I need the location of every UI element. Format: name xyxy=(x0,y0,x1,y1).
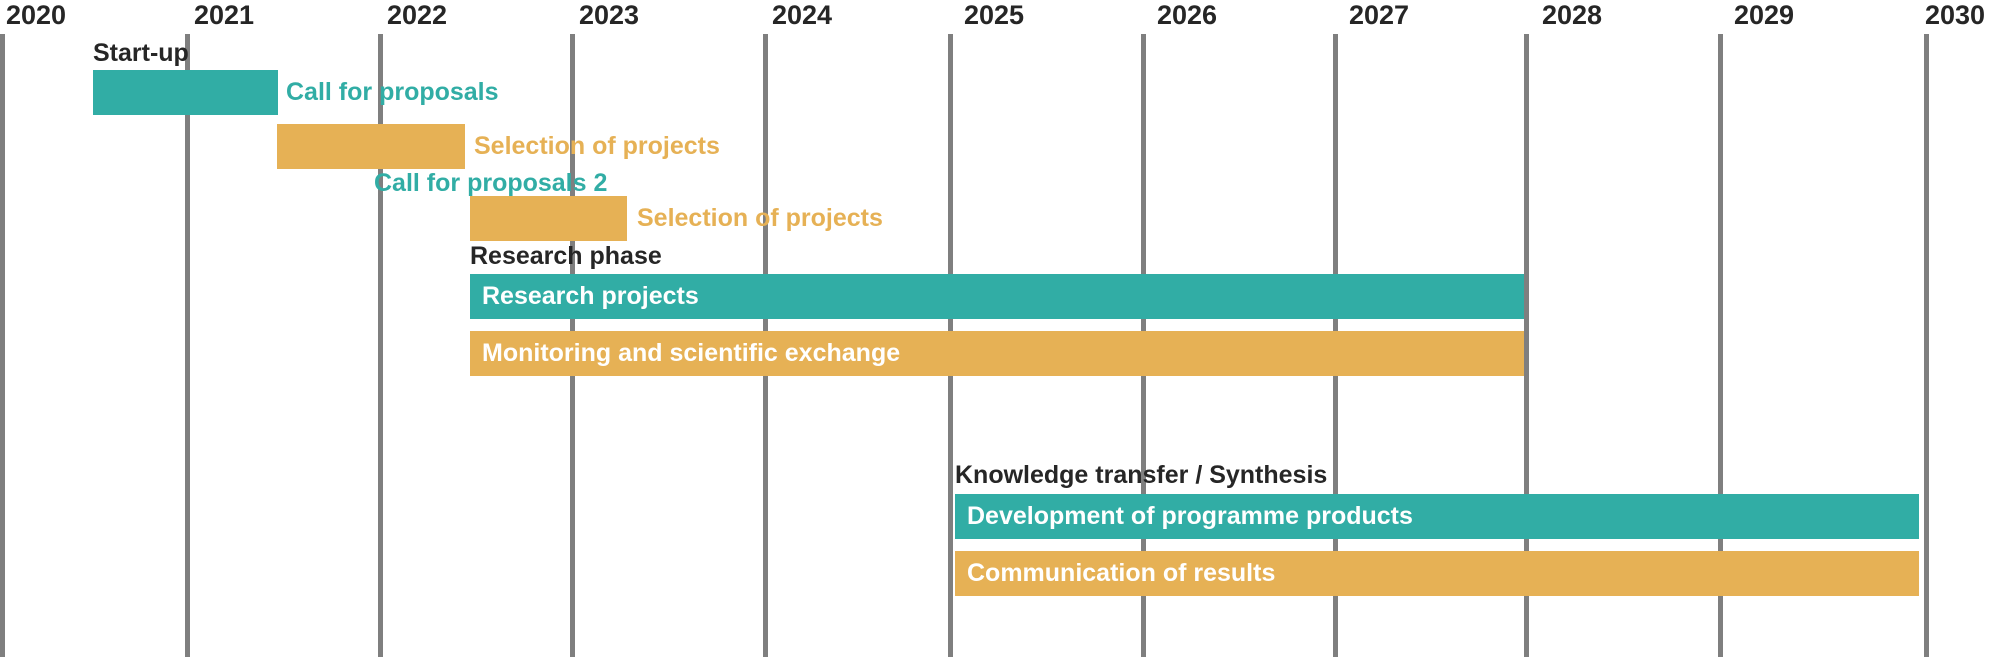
task-label-research-projects: Research projects xyxy=(470,284,699,309)
task-label-call-for-proposals-2: Call for proposals 2 xyxy=(374,171,607,196)
task-label-call-for-proposals: Call for proposals xyxy=(286,80,499,105)
task-bar-communication-of-results[interactable]: Communication of results xyxy=(955,551,1919,596)
task-bar-research-projects[interactable]: Research projects xyxy=(470,274,1524,319)
task-label-communication-of-results: Communication of results xyxy=(955,561,1275,586)
task-bar-monitoring-and-scientific-exchange[interactable]: Monitoring and scientific exchange xyxy=(470,331,1524,376)
task-label-development-of-programme-products: Development of programme products xyxy=(955,504,1413,529)
task-bars: Start-up Call for proposals Selection of… xyxy=(0,0,2000,657)
task-label-selection-of-projects-1: Selection of projects xyxy=(474,134,720,159)
phase-heading-research: Research phase xyxy=(470,244,662,269)
gantt-chart: 2020 2021 2022 2023 2024 2025 2026 2027 … xyxy=(0,0,2000,657)
task-bar-call-for-proposals[interactable] xyxy=(93,70,278,115)
task-label-monitoring-and-scientific-exchange: Monitoring and scientific exchange xyxy=(470,341,900,366)
task-label-selection-of-projects-2: Selection of projects xyxy=(637,206,883,231)
task-bar-selection-of-projects-1[interactable] xyxy=(277,124,465,169)
task-bar-selection-of-projects-2[interactable] xyxy=(470,196,627,241)
phase-heading-knowledge-transfer: Knowledge transfer / Synthesis xyxy=(955,463,1327,488)
phase-heading-startup: Start-up xyxy=(93,41,189,66)
task-bar-development-of-programme-products[interactable]: Development of programme products xyxy=(955,494,1919,539)
